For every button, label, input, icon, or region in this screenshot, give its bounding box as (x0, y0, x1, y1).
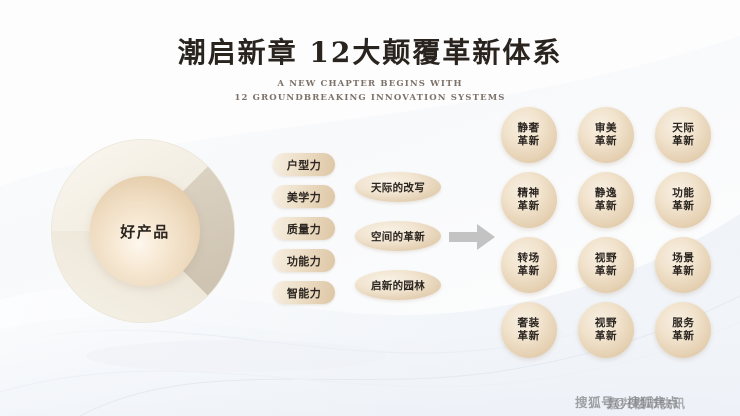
innovation-node-line1: 服务 (672, 317, 694, 330)
innovation-node-line1: 场景 (672, 252, 694, 265)
capability-pill-label: 功能力 (287, 253, 321, 269)
innovation-node-line1: 视野 (595, 317, 617, 330)
innovation-node-5[interactable]: 静逸 革新 (578, 172, 634, 228)
innovation-node-10[interactable]: 奢装 革新 (501, 302, 557, 358)
innovation-node-line2: 革新 (595, 265, 617, 278)
innovation-node-line1: 奢装 (518, 317, 540, 330)
capability-pill-5[interactable]: 智能力 (273, 281, 335, 304)
page-title: 潮启新章 12大颠覆革新体系 (0, 36, 740, 69)
innovation-node-line1: 精神 (518, 187, 540, 200)
innovation-node-line2: 革新 (518, 135, 540, 148)
innovation-node-8[interactable]: 视野 革新 (578, 237, 634, 293)
subtitle-line-1: A NEW CHAPTER BEGINS WITH (0, 78, 740, 92)
innovation-node-4[interactable]: 精神 革新 (501, 172, 557, 228)
theme-oval-3[interactable]: 启新的园林 (355, 270, 441, 300)
capability-pill-1[interactable]: 户型力 (273, 153, 335, 176)
watermark-secondary: 嘉兴楼市快讯 (607, 393, 686, 412)
theme-list: 天际的改写 空间的革新 启新的园林 (355, 172, 441, 319)
innovation-node-line1: 审美 (595, 122, 617, 135)
subtitle-line-2: 12 GROUNDBREAKING INNOVATION SYSTEMS (0, 92, 740, 106)
innovation-node-line2: 革新 (672, 330, 694, 343)
innovation-node-line2: 革新 (595, 200, 617, 213)
innovation-node-line1: 转场 (518, 252, 540, 265)
capability-list: 户型力 美学力 质量力 功能力 智能力 (273, 153, 335, 313)
innovation-node-9[interactable]: 场景 革新 (655, 237, 711, 293)
core-label: 好产品 (120, 221, 170, 242)
innovation-node-line2: 革新 (672, 135, 694, 148)
page-subtitle: A NEW CHAPTER BEGINS WITH 12 GROUNDBREAK… (0, 78, 740, 106)
theme-oval-label: 启新的园林 (371, 278, 425, 293)
innovation-node-line1: 静逸 (595, 187, 617, 200)
theme-oval-1[interactable]: 天际的改写 (355, 172, 441, 202)
capability-pill-label: 美学力 (287, 189, 321, 205)
title-block: 潮启新章 12大颠覆革新体系 A NEW CHAPTER BEGINS WITH… (0, 36, 740, 106)
innovation-node-line2: 革新 (672, 265, 694, 278)
innovation-node-3[interactable]: 天际 革新 (655, 107, 711, 163)
innovation-node-line2: 革新 (595, 135, 617, 148)
innovation-node-7[interactable]: 转场 革新 (501, 237, 557, 293)
innovation-node-line2: 革新 (518, 265, 540, 278)
innovation-node-12[interactable]: 服务 革新 (655, 302, 711, 358)
capability-pill-label: 户型力 (287, 157, 321, 173)
core-donut-diagram: 好产品 (30, 118, 256, 344)
innovation-node-line2: 革新 (518, 330, 540, 343)
innovation-node-line2: 革新 (595, 330, 617, 343)
innovation-node-1[interactable]: 静奢 革新 (501, 107, 557, 163)
innovation-node-line1: 静奢 (518, 122, 540, 135)
innovation-node-6[interactable]: 功能 革新 (655, 172, 711, 228)
theme-oval-label: 天际的改写 (371, 180, 425, 195)
capability-pill-2[interactable]: 美学力 (273, 185, 335, 208)
capability-pill-label: 智能力 (287, 285, 321, 301)
capability-pill-3[interactable]: 质量力 (273, 217, 335, 240)
capability-pill-label: 质量力 (287, 221, 321, 237)
theme-oval-label: 空间的革新 (371, 229, 425, 244)
innovation-node-line2: 革新 (518, 200, 540, 213)
innovation-node-line2: 革新 (672, 200, 694, 213)
innovation-node-line1: 视野 (595, 252, 617, 265)
innovation-node-line1: 功能 (672, 187, 694, 200)
innovation-node-line1: 天际 (672, 122, 694, 135)
theme-oval-2[interactable]: 空间的革新 (355, 221, 441, 251)
core-circle: 好产品 (90, 176, 200, 286)
capability-pill-4[interactable]: 功能力 (273, 249, 335, 272)
innovation-node-2[interactable]: 审美 革新 (578, 107, 634, 163)
innovation-grid: 静奢 革新 审美 革新 天际 革新 精神 革新 静逸 革新 功能 革新 转场 革… (490, 107, 722, 367)
innovation-node-11[interactable]: 视野 革新 (578, 302, 634, 358)
slide-canvas: 潮启新章 12大颠覆革新体系 A NEW CHAPTER BEGINS WITH… (0, 0, 740, 416)
